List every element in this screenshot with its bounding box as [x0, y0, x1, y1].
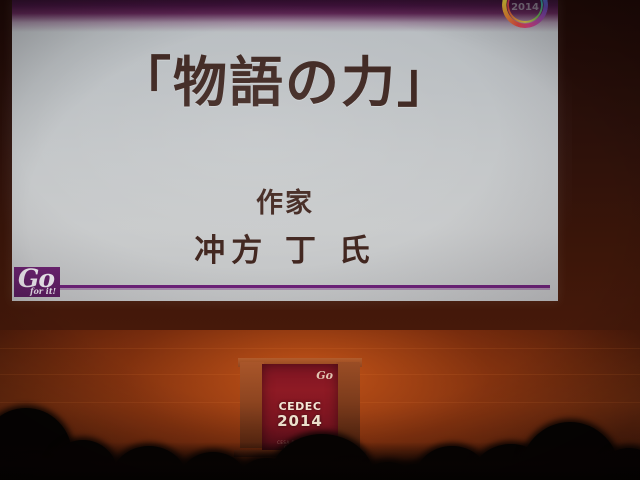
cedec-year-label: 2014	[502, 2, 548, 13]
cedec-logo-icon: CEDEC 2014	[502, 0, 548, 28]
podium: CEDEC 2014 Go CESA DEVELOPERS CONFERENCE	[238, 356, 362, 452]
slide-title: 「物語の力」	[12, 56, 558, 110]
podium-left-panel	[240, 362, 264, 448]
podium-fine-print: CESA DEVELOPERS CONFERENCE	[262, 440, 338, 450]
go-for-it-logo: Go for it!	[14, 267, 60, 297]
podium-right-panel	[336, 362, 360, 448]
projection-screen: CEDEC 2014 「物語の力」 作家 冲方 丁 氏 Go for it!	[12, 0, 558, 301]
slide-speaker-name: 冲方 丁 氏	[12, 225, 558, 270]
podium-base	[234, 450, 366, 457]
conference-hall-photo: CEDEC 2014 「物語の力」 作家 冲方 丁 氏 Go for it! C…	[0, 0, 640, 480]
slide-speaker-role: 作家	[12, 181, 558, 220]
go-logo-tagline: for it!	[30, 286, 56, 296]
podium-year-label: 2014	[262, 412, 338, 430]
podium-banner: CEDEC 2014 Go CESA DEVELOPERS CONFERENCE	[262, 364, 338, 450]
slide-top-band	[12, 0, 558, 32]
presentation-slide: CEDEC 2014 「物語の力」 作家 冲方 丁 氏 Go for it!	[12, 0, 558, 301]
slide-accent-rule	[54, 285, 550, 288]
podium-sponsor-logo: Go	[316, 369, 333, 382]
